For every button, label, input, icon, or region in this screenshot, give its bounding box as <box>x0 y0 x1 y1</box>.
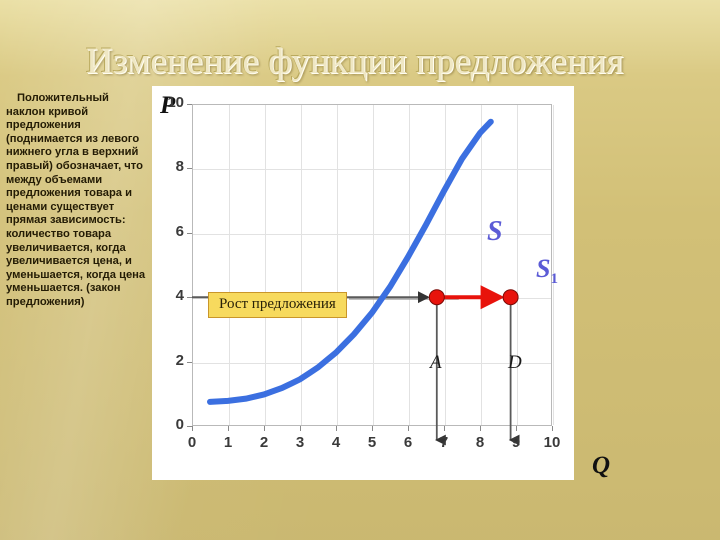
x-axis-tick-label: 8 <box>467 434 493 451</box>
axis-label-quantity: Q <box>592 452 610 480</box>
x-axis-tick <box>336 426 337 431</box>
x-axis-tick <box>552 426 553 431</box>
x-axis-tick <box>480 426 481 431</box>
x-axis-tick-label: 0 <box>179 434 205 451</box>
y-axis-tick <box>187 362 192 363</box>
x-axis-tick-label: 7 <box>431 434 457 451</box>
x-axis-tick-label: 9 <box>503 434 529 451</box>
x-axis-tick-label: 2 <box>251 434 277 451</box>
x-axis-tick <box>264 426 265 431</box>
curve-label-s1-subscript: 1 <box>550 271 558 287</box>
y-axis-tick <box>187 426 192 427</box>
point-label-a: A <box>430 352 442 374</box>
x-axis-tick <box>408 426 409 431</box>
y-axis-tick-label: 0 <box>156 416 184 433</box>
y-axis-tick-label: 6 <box>156 223 184 240</box>
y-axis-tick-label: 4 <box>156 287 184 304</box>
page-title: Изменение функции предложения <box>86 40 720 84</box>
x-axis-tick-label: 4 <box>323 434 349 451</box>
x-axis-tick <box>192 426 193 431</box>
y-axis-tick <box>187 233 192 234</box>
point-d <box>503 290 518 305</box>
curve-label-s1-text: S <box>536 254 550 283</box>
x-axis-tick <box>444 426 445 431</box>
curve-label-s: S <box>487 216 503 248</box>
chart-panel: P <box>152 86 574 480</box>
slide-canvas: Изменение функции предложения Положитель… <box>0 0 720 540</box>
y-axis-tick-label: 10 <box>156 94 184 111</box>
x-axis-tick-label: 3 <box>287 434 313 451</box>
body-paragraph: Положительный наклон кривой предложения … <box>6 92 146 310</box>
y-axis-tick-label: 2 <box>156 352 184 369</box>
x-axis-tick-label: 1 <box>215 434 241 451</box>
callout-supply-growth: Рост предложения <box>208 292 347 318</box>
point-a <box>429 290 444 305</box>
x-axis-tick <box>372 426 373 431</box>
y-axis-tick-label: 8 <box>156 158 184 175</box>
supply-curve <box>210 122 491 402</box>
x-axis-tick-label: 6 <box>395 434 421 451</box>
x-axis-tick <box>228 426 229 431</box>
y-axis-tick <box>187 297 192 298</box>
x-axis-tick-label: 5 <box>359 434 385 451</box>
y-axis-tick <box>187 168 192 169</box>
x-axis-tick <box>516 426 517 431</box>
x-axis-tick-label: 10 <box>539 434 565 451</box>
curve-label-s1: S1 <box>536 254 558 288</box>
y-axis-tick <box>187 104 192 105</box>
chart-overlay <box>152 86 574 480</box>
point-label-d: D <box>508 352 522 374</box>
x-axis-tick <box>300 426 301 431</box>
